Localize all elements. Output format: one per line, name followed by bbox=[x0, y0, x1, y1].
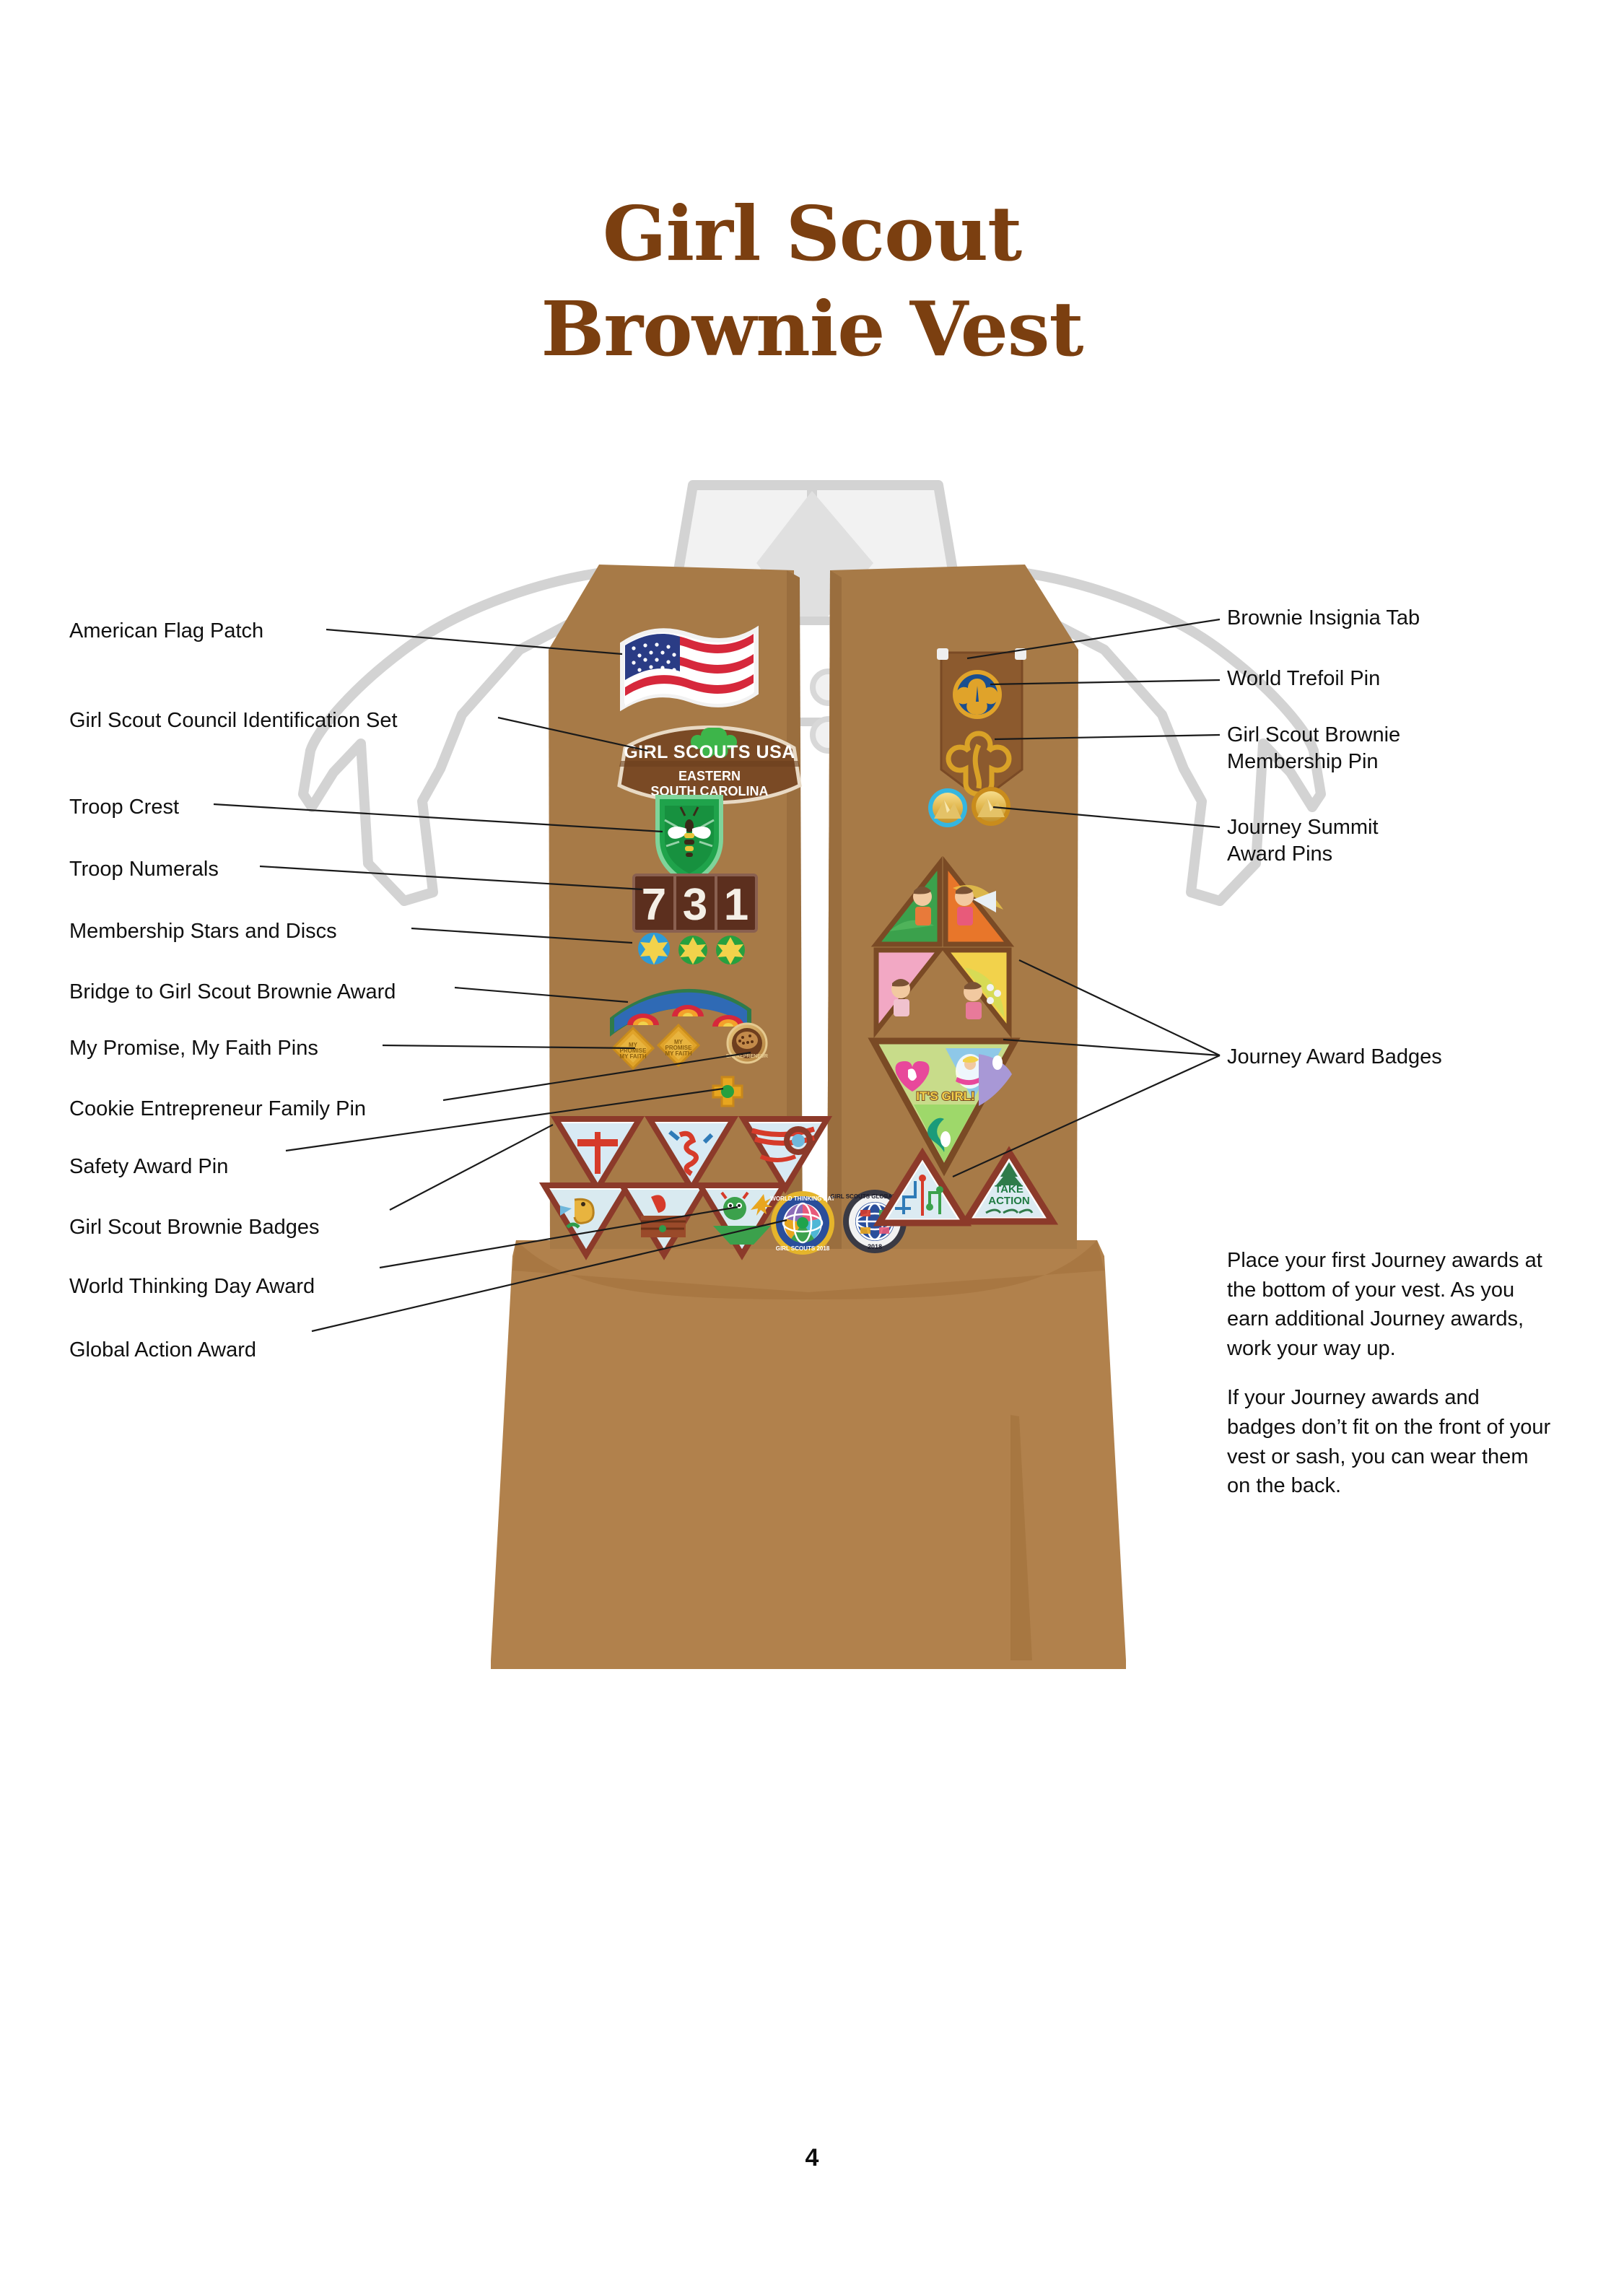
leader-line-troop-crest bbox=[214, 804, 663, 832]
label-brownie-insignia-tab-line-1: Brownie Insignia Tab bbox=[1227, 605, 1530, 632]
cookie-entrepreneur-family-pin-icon: ENTREPRENEUR bbox=[726, 1024, 768, 1063]
blouse-shirt bbox=[303, 485, 1321, 1256]
label-journey-summit-award-pins: Journey SummitAward Pins bbox=[1227, 814, 1530, 868]
vest-right-panel bbox=[827, 565, 1078, 1249]
label-brownie-badges: Girl Scout Brownie Badges bbox=[69, 1214, 320, 1241]
label-my-promise-my-faith-pins-line-1: My Promise, My Faith Pins bbox=[69, 1035, 318, 1062]
label-journey-award-badges: Journey Award Badges bbox=[1227, 1044, 1530, 1071]
svg-text:IT'S GIRL!: IT'S GIRL! bbox=[916, 1089, 974, 1103]
brownie-skirt bbox=[491, 1240, 1126, 1669]
leader-line-journey-summit-award-pins bbox=[993, 807, 1220, 827]
label-world-thinking-day-award: World Thinking Day Award bbox=[69, 1273, 315, 1300]
svg-text:ACTION: ACTION bbox=[988, 1195, 1030, 1207]
label-global-action-award: Global Action Award bbox=[69, 1337, 256, 1364]
label-brownie-badges-line-1: Girl Scout Brownie Badges bbox=[69, 1214, 320, 1241]
leader-line-global-action-award bbox=[312, 1220, 787, 1331]
label-my-promise-my-faith-pins: My Promise, My Faith Pins bbox=[69, 1035, 318, 1062]
label-cookie-entrepreneur-family-pin: Cookie Entrepreneur Family Pin bbox=[69, 1096, 366, 1123]
label-council-identification-set: Girl Scout Council Identification Set bbox=[69, 707, 398, 734]
journey-summit-award-pin-2-icon bbox=[972, 787, 1010, 826]
journey-summit-award-pin-1-icon bbox=[928, 788, 967, 827]
leader-line-world-trefoil-pin bbox=[990, 680, 1220, 684]
svg-text:GIRL SCOUTS USA: GIRL SCOUTS USA bbox=[624, 742, 795, 762]
leader-line-council-identification-set bbox=[498, 718, 648, 751]
label-american-flag-patch: American Flag Patch bbox=[69, 618, 263, 645]
american-flag-patch-icon bbox=[622, 630, 756, 707]
leader-line-cookie-entrepreneur-family-pin bbox=[443, 1053, 751, 1100]
label-brownie-insignia-tab: Brownie Insignia Tab bbox=[1227, 605, 1530, 632]
label-brownie-membership-pin-line-1: Girl Scout Brownie bbox=[1227, 722, 1530, 749]
svg-text:TAKE: TAKE bbox=[995, 1183, 1023, 1195]
label-journey-summit-award-pins-line-2: Award Pins bbox=[1227, 841, 1530, 868]
membership-stars-and-discs-icon bbox=[638, 933, 745, 964]
svg-text:1: 1 bbox=[724, 880, 748, 930]
tab-snap-right bbox=[1015, 648, 1026, 660]
leader-line-brownie-membership-pin bbox=[995, 735, 1220, 739]
leader-line-journey-badges-line-3 bbox=[953, 1055, 1220, 1177]
label-journey-summit-award-pins-line-1: Journey Summit bbox=[1227, 814, 1530, 841]
label-bridge-to-brownie-award-line-1: Bridge to Girl Scout Brownie Award bbox=[69, 979, 396, 1006]
svg-text:GIRL SCOUTS 2018: GIRL SCOUTS 2018 bbox=[776, 1245, 830, 1252]
world-trefoil-pin-icon bbox=[953, 670, 1002, 719]
journey-award-triangle-circuit-icon bbox=[879, 1154, 966, 1223]
council-identification-patch-icon: GIRL SCOUTS USA EASTERN SOUTH CAROLINA bbox=[619, 728, 800, 803]
svg-text:EASTERN: EASTERN bbox=[678, 769, 741, 783]
brownie-badge-row-1 bbox=[556, 1119, 827, 1188]
journey-placement-note: Place your first Journey awards at the b… bbox=[1227, 1246, 1552, 1521]
svg-text:2018: 2018 bbox=[868, 1243, 882, 1250]
troop-numerals-icon: 7 3 1 bbox=[634, 875, 756, 931]
safety-award-pin-icon bbox=[713, 1077, 742, 1106]
global-action-award-icon: GIRL SCOUTS GLOBAL ACTION 2018 bbox=[831, 1190, 920, 1253]
leader-line-troop-numerals bbox=[260, 866, 642, 889]
brownie-membership-pin-icon bbox=[948, 733, 1009, 794]
note-paragraph-2: If your Journey awards and badges don’t … bbox=[1227, 1383, 1552, 1500]
journey-award-triangle-take-action-icon: TAKE ACTION bbox=[966, 1152, 1052, 1221]
leader-line-world-thinking-day-award bbox=[380, 1207, 738, 1268]
label-world-thinking-day-award-line-1: World Thinking Day Award bbox=[69, 1273, 315, 1300]
label-brownie-membership-pin-line-2: Membership Pin bbox=[1227, 749, 1530, 775]
svg-text:PROMISE: PROMISE bbox=[620, 1047, 647, 1054]
label-global-action-award-line-1: Global Action Award bbox=[69, 1337, 256, 1364]
label-american-flag-patch-line-1: American Flag Patch bbox=[69, 618, 263, 645]
svg-text:3: 3 bbox=[683, 880, 707, 930]
svg-text:PROMISE: PROMISE bbox=[665, 1045, 693, 1051]
page-title: Girl Scout Brownie Vest bbox=[0, 196, 1624, 367]
leader-line-journey-badges-line-2 bbox=[1003, 1040, 1220, 1055]
label-safety-award-pin: Safety Award Pin bbox=[69, 1154, 228, 1180]
title-line-2: Brownie Vest bbox=[0, 292, 1624, 367]
svg-text:SOUTH CAROLINA: SOUTH CAROLINA bbox=[651, 784, 769, 798]
blouse-button-1 bbox=[813, 671, 844, 703]
tab-snap-left bbox=[937, 648, 948, 660]
label-safety-award-pin-line-1: Safety Award Pin bbox=[69, 1154, 228, 1180]
label-world-trefoil-pin: World Trefoil Pin bbox=[1227, 666, 1530, 692]
label-troop-crest-line-1: Troop Crest bbox=[69, 794, 179, 821]
troop-crest-icon bbox=[658, 797, 721, 884]
svg-text:7: 7 bbox=[642, 880, 666, 930]
leader-line-brownie-insignia-tab bbox=[967, 619, 1220, 658]
brownie-insignia-tab-icon bbox=[937, 648, 1026, 800]
svg-text:MY: MY bbox=[629, 1042, 638, 1048]
label-troop-numerals: Troop Numerals bbox=[69, 856, 219, 883]
label-membership-stars-discs-line-1: Membership Stars and Discs bbox=[69, 918, 337, 945]
title-line-1: Girl Scout bbox=[0, 196, 1624, 271]
brownie-badge-row-2 bbox=[544, 1185, 784, 1255]
journey-award-badge-cluster-lower: IT'S GIRL! bbox=[873, 1041, 1015, 1169]
label-journey-award-badges-line-1: Journey Award Badges bbox=[1227, 1044, 1530, 1071]
leader-line-american-flag-patch bbox=[326, 630, 622, 654]
leader-line-membership-stars-discs bbox=[411, 928, 632, 943]
page-root: Girl Scout Brownie Vest bbox=[0, 0, 1624, 2274]
leader-line-brownie-badges bbox=[390, 1125, 553, 1210]
label-bridge-to-brownie-award: Bridge to Girl Scout Brownie Award bbox=[69, 979, 396, 1006]
leader-line-bridge-to-brownie-award bbox=[455, 988, 628, 1002]
svg-text:WORLD THINKING DAY: WORLD THINKING DAY bbox=[770, 1195, 835, 1202]
label-council-identification-set-line-1: Girl Scout Council Identification Set bbox=[69, 707, 398, 734]
label-brownie-membership-pin: Girl Scout BrownieMembership Pin bbox=[1227, 722, 1530, 775]
label-troop-numerals-line-1: Troop Numerals bbox=[69, 856, 219, 883]
blouse-button-2 bbox=[813, 719, 844, 751]
leader-line-my-promise-my-faith-pins bbox=[383, 1045, 635, 1048]
svg-text:MY FAITH: MY FAITH bbox=[665, 1050, 691, 1057]
leader-line-journey-award-badges bbox=[1019, 960, 1220, 1055]
label-cookie-entrepreneur-family-pin-line-1: Cookie Entrepreneur Family Pin bbox=[69, 1096, 366, 1123]
page-number: 4 bbox=[0, 2144, 1624, 2172]
label-world-trefoil-pin-line-1: World Trefoil Pin bbox=[1227, 666, 1530, 692]
svg-text:GIRL SCOUTS GLOBAL ACTION: GIRL SCOUTS GLOBAL ACTION bbox=[831, 1193, 920, 1200]
vest-left-panel bbox=[549, 565, 803, 1249]
svg-text:MY FAITH: MY FAITH bbox=[619, 1053, 646, 1060]
label-membership-stars-discs: Membership Stars and Discs bbox=[69, 918, 337, 945]
my-promise-my-faith-pin-1-icon: MY PROMISE MY FAITH bbox=[613, 1028, 653, 1068]
svg-text:ENTREPRENEUR: ENTREPRENEUR bbox=[726, 1054, 768, 1059]
world-thinking-day-award-icon: WORLD THINKING DAY GIRL SCOUTS 2018 bbox=[770, 1191, 835, 1255]
note-paragraph-1: Place your first Journey awards at the b… bbox=[1227, 1246, 1552, 1363]
svg-text:MY: MY bbox=[674, 1039, 684, 1045]
bridge-to-brownie-award-icon bbox=[610, 989, 751, 1037]
my-promise-my-faith-pin-2-icon: MY PROMISE MY FAITH bbox=[658, 1025, 699, 1066]
journey-award-badge-cluster-upper bbox=[876, 863, 1009, 1031]
label-troop-crest: Troop Crest bbox=[69, 794, 179, 821]
